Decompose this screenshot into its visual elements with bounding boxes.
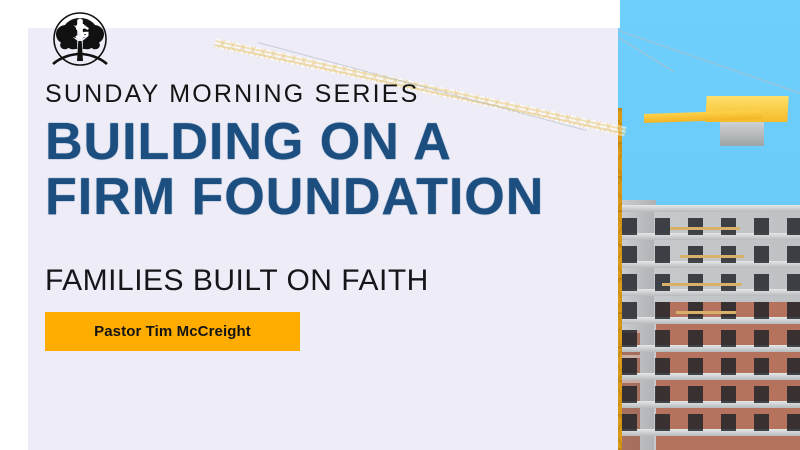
- rebar-scaffold: [662, 283, 742, 286]
- crane-counterweight-block: [720, 122, 764, 146]
- speaker-name-label: Pastor Tim McCreight: [94, 323, 251, 340]
- rebar-scaffold: [670, 227, 740, 230]
- page-subtitle: FAMILIES BUILT ON FAITH: [45, 264, 429, 298]
- title-line-1: BUILDING ON A: [45, 115, 544, 170]
- church-logo: [45, 8, 115, 78]
- rebar-scaffold: [680, 255, 744, 258]
- rebar-scaffold: [676, 311, 736, 314]
- poster-canvas: SUNDAY MORNING SERIES BUILDING ON A FIRM…: [0, 0, 800, 450]
- speaker-cta-button[interactable]: Pastor Tim McCreight: [45, 312, 300, 351]
- title-line-2: FIRM FOUNDATION: [45, 170, 544, 225]
- frame-left-margin: [0, 0, 28, 450]
- series-kicker: SUNDAY MORNING SERIES: [45, 80, 420, 109]
- page-title: BUILDING ON A FIRM FOUNDATION: [45, 115, 544, 225]
- content-block: SUNDAY MORNING SERIES BUILDING ON A FIRM…: [45, 0, 590, 422]
